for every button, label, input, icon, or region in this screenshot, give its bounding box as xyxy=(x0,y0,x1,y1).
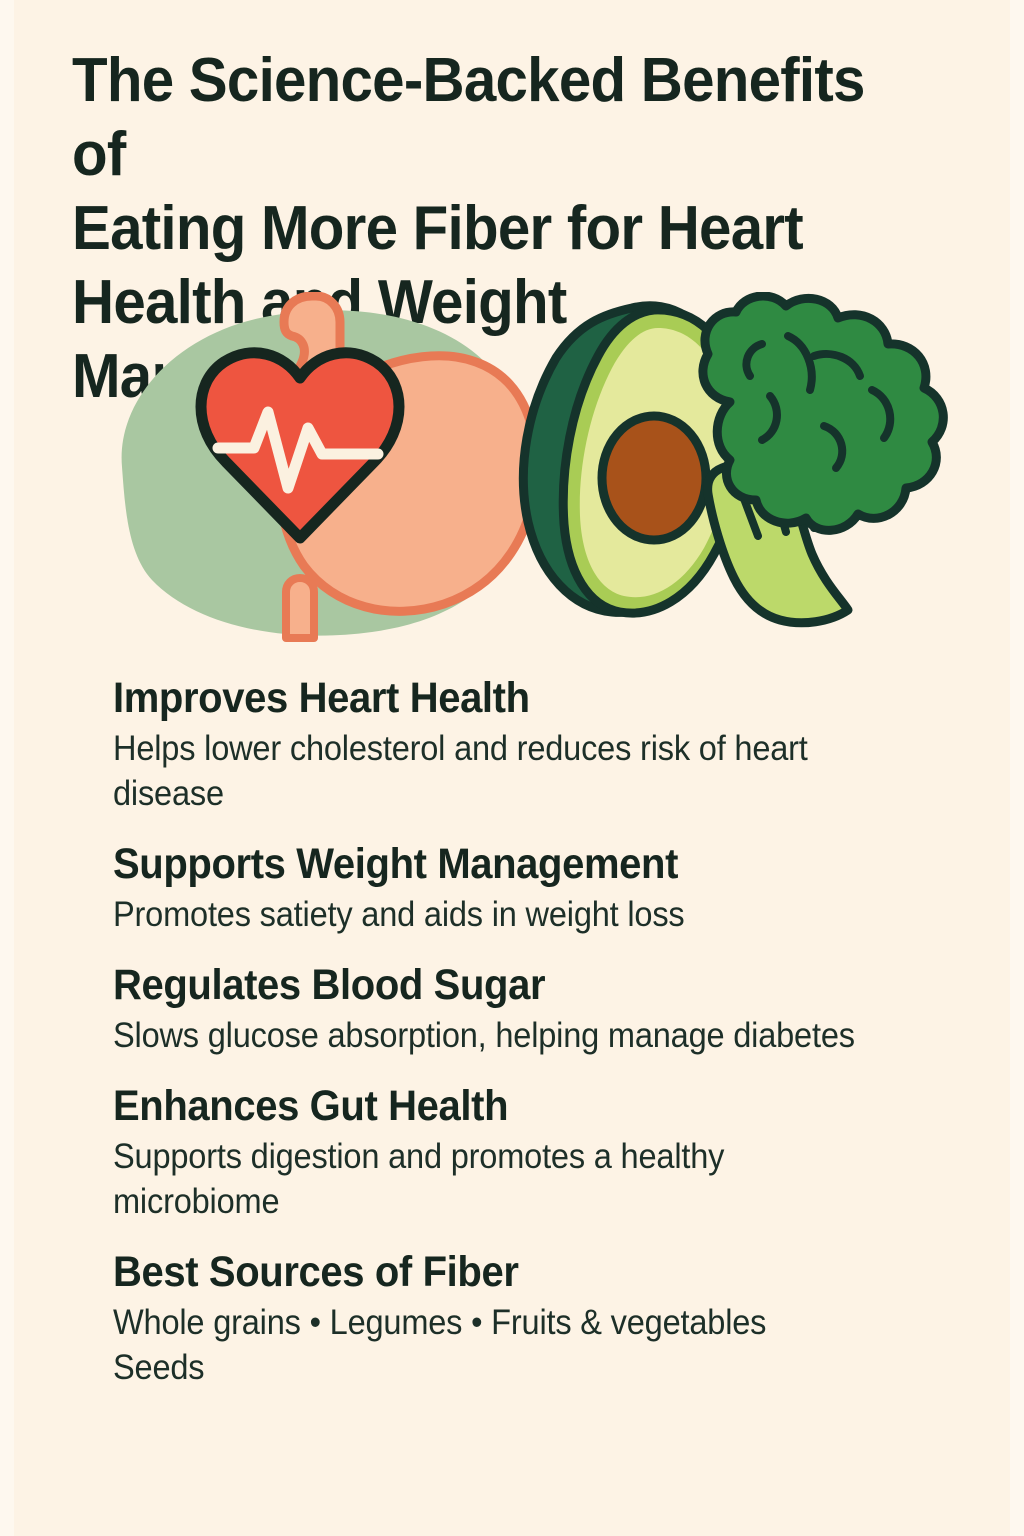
right-edge-band xyxy=(1010,0,1024,1536)
benefit-description: Slows glucose absorption, helping manage… xyxy=(113,1013,857,1058)
benefit-title: Enhances Gut Health xyxy=(113,1080,857,1132)
infographic-poster: The Science-Backed Benefits of Eating Mo… xyxy=(0,0,1024,1536)
benefit-description: Helps lower cholesterol and reduces risk… xyxy=(113,726,857,816)
benefit-title: Best Sources of Fiber xyxy=(113,1246,857,1298)
benefit-title: Improves Heart Health xyxy=(113,672,857,724)
illustration xyxy=(72,292,972,654)
benefit-item: Best Sources of Fiber Whole grains • Leg… xyxy=(113,1246,913,1390)
benefit-title: Regulates Blood Sugar xyxy=(113,959,857,1011)
benefit-item: Regulates Blood Sugar Slows glucose abso… xyxy=(113,959,913,1058)
benefit-item: Improves Heart Health Helps lower choles… xyxy=(113,672,913,816)
broccoli-icon xyxy=(703,296,943,623)
benefit-description: Promotes satiety and aids in weight loss xyxy=(113,892,857,937)
benefit-description: Whole grains • Legumes • Fruits & vegeta… xyxy=(113,1300,857,1390)
benefit-item: Supports Weight Management Promotes sati… xyxy=(113,838,913,937)
benefit-description: Supports digestion and promotes a health… xyxy=(113,1134,857,1224)
left-edge-band xyxy=(0,0,14,1536)
benefits-list: Improves Heart Health Helps lower choles… xyxy=(113,672,913,1390)
benefit-item: Enhances Gut Health Supports digestion a… xyxy=(113,1080,913,1224)
benefit-title: Supports Weight Management xyxy=(113,838,857,890)
